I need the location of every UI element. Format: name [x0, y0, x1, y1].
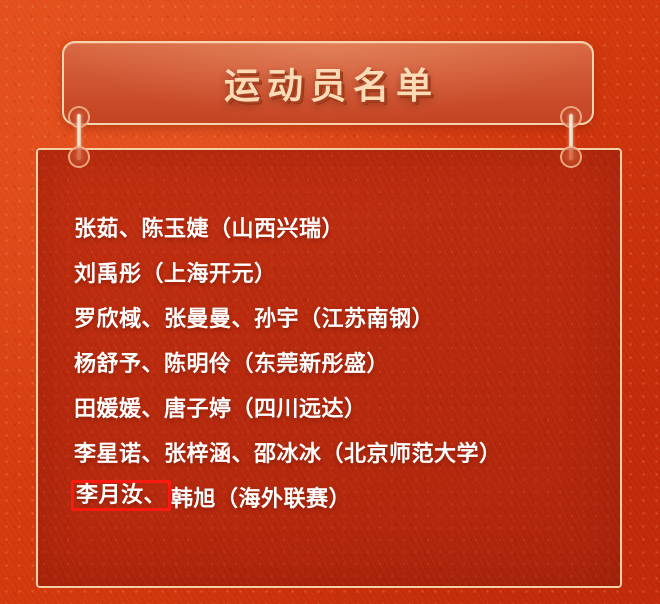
roster-panel: 张茹、陈玉婕（山西兴瑞） 刘禹彤（上海开元） 罗欣棫、张曼曼、孙宇（江苏南钢） …	[36, 148, 622, 588]
roster-row: 杨舒予、陈明伶（东莞新彤盛）	[74, 347, 389, 377]
roster-row: 刘禹彤（上海开元）	[74, 257, 277, 287]
hanger-connector-left	[68, 106, 90, 168]
roster-row-text: 田媛媛、唐子婷（四川远达）	[74, 391, 367, 423]
hanger-ring-bottom-right	[560, 146, 582, 168]
roster-row-text: 罗欣棫、张曼曼、孙宇（江苏南钢）	[74, 301, 434, 333]
poster-canvas: 运动员名单 张茹、陈玉婕（山西兴瑞） 刘禹彤（上海开元） 罗欣棫、张曼曼、孙宇（…	[0, 0, 660, 604]
roster-row: 田媛媛、唐子婷（四川远达）	[74, 392, 367, 422]
hanger-connector-right	[560, 106, 582, 168]
roster-row-text: 张茹、陈玉婕（山西兴瑞）	[74, 211, 344, 243]
title-banner: 运动员名单	[62, 41, 594, 125]
roster-row-text: 刘禹彤（上海开元）	[74, 256, 277, 288]
page-title: 运动员名单	[217, 57, 439, 109]
highlight-box-annotation: 李月汝、	[71, 480, 171, 511]
roster-row-text: 杨舒予、陈明伶（东莞新彤盛）	[74, 346, 389, 378]
roster-row-text: 韩旭（海外联赛）	[171, 481, 351, 513]
hanger-ring-bottom-left	[68, 146, 90, 168]
roster-row-highlighted: 李月汝、 韩旭（海外联赛）	[74, 482, 351, 512]
roster-row: 罗欣棫、张曼曼、孙宇（江苏南钢）	[74, 302, 434, 332]
roster-row-text: 李星诺、张梓涵、邵冰冰（北京师范大学）	[74, 436, 502, 468]
roster-row: 李星诺、张梓涵、邵冰冰（北京师范大学）	[74, 437, 502, 467]
roster-row: 张茹、陈玉婕（山西兴瑞）	[74, 212, 344, 242]
